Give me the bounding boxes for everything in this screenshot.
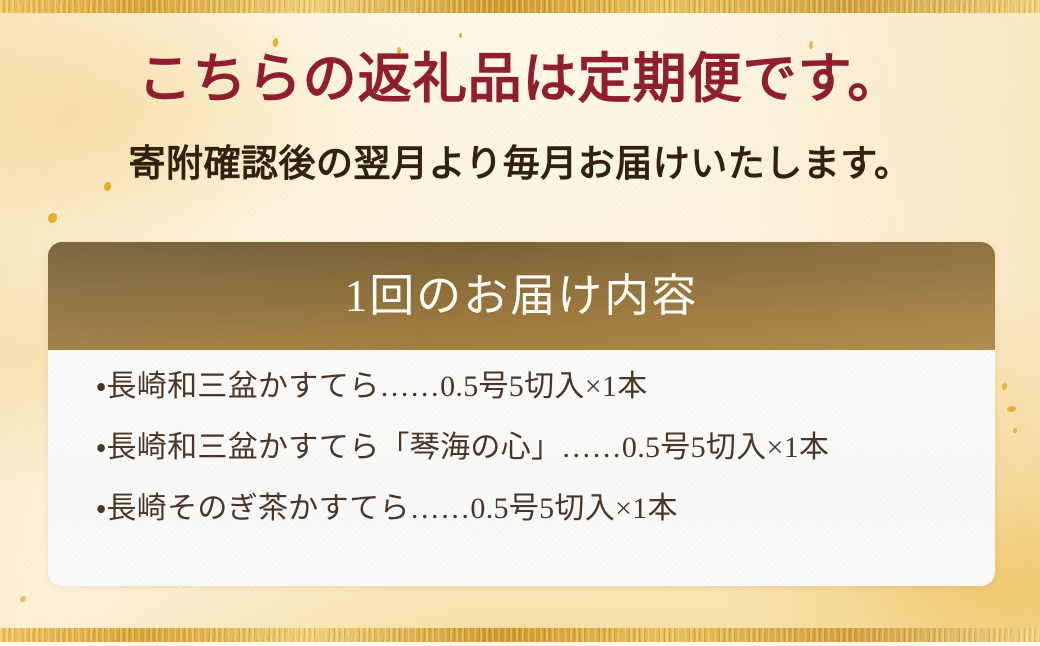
heading-block: こちらの返礼品は定期便です。 <box>0 52 1040 106</box>
card-body: ・長崎和三盆かすてら……0.5号5切入×1本 ・長崎和三盆かすてら「琴海の心」…… <box>48 350 995 586</box>
top-gold-band <box>0 0 1040 13</box>
page-title: こちらの返礼品は定期便です。 <box>0 52 1040 106</box>
delivery-item-list: ・長崎和三盆かすてら……0.5号5切入×1本 ・長崎和三盆かすてら「琴海の心」…… <box>48 372 995 524</box>
promo-banner: こちらの返礼品は定期便です。 寄附確認後の翌月より毎月お届けいたします。 1回の… <box>0 0 1040 646</box>
list-item: ・長崎そのぎ茶かすてら……0.5号5切入×1本 <box>96 494 995 524</box>
bottom-white-edge <box>0 642 1040 646</box>
list-item: ・長崎和三盆かすてら……0.5号5切入×1本 <box>96 372 995 402</box>
card-header-band: 1回のお届け内容 <box>48 242 995 350</box>
delivery-contents-card: 1回のお届け内容 ・長崎和三盆かすてら……0.5号5切入×1本 ・長崎和三盆かす… <box>48 242 995 586</box>
card-header-title: 1回のお届け内容 <box>345 274 699 319</box>
bottom-gold-band <box>0 628 1040 642</box>
list-item: ・長崎和三盆かすてら「琴海の心」……0.5号5切入×1本 <box>96 433 995 463</box>
page-subtitle: 寄附確認後の翌月より毎月お届けいたします。 <box>0 145 1040 186</box>
